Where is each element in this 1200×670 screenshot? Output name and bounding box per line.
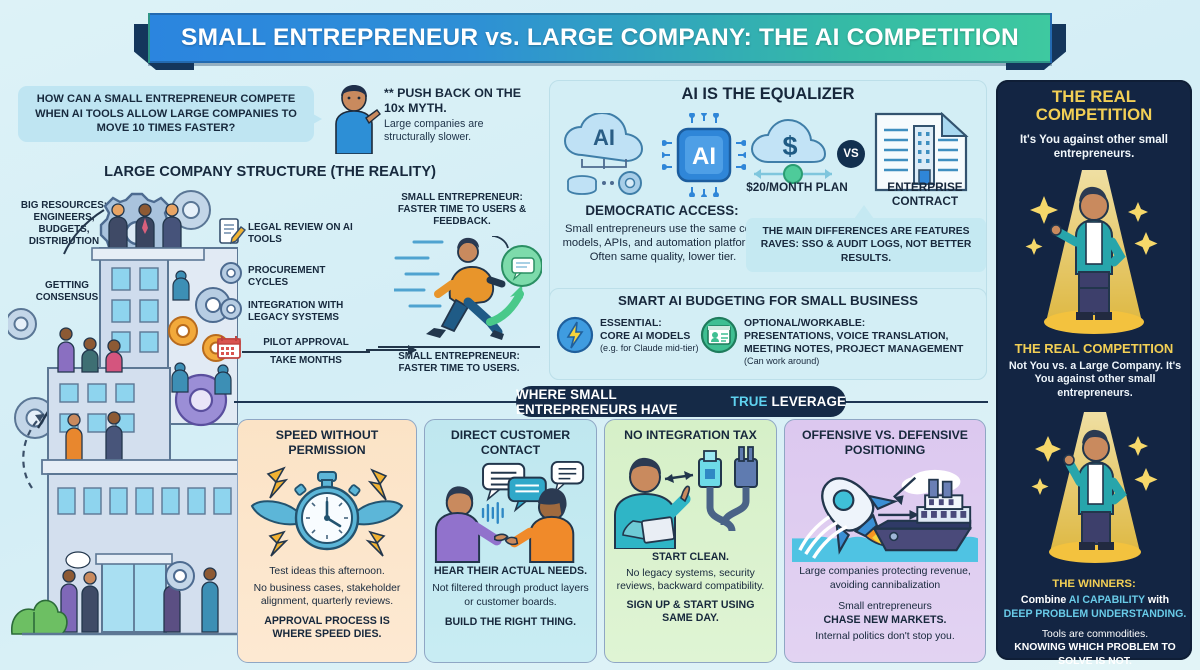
spotlight-person-bottom-illustration [1022, 412, 1168, 567]
card-line-2: No legacy systems, security reviews, bac… [612, 567, 769, 594]
unplugged-cable-icon [612, 443, 769, 551]
card-line-4: Internal politics don't stop you. [792, 630, 978, 644]
plan-left-label: $20/MONTH PLAN [738, 180, 856, 194]
header-ribbon: SMALL ENTREPRENEUR vs. LARGE COMPANY: TH… [0, 8, 1200, 72]
card-title: SPEED WITHOUT PERMISSION [245, 428, 409, 457]
leverage-post: LEVERAGE [772, 394, 846, 409]
lightning-bolt-icon [556, 316, 594, 354]
plan-right-label: ENTERPRISE CONTRACT [866, 180, 984, 208]
pointing-person-illustration [326, 82, 382, 154]
calendar-icon [216, 334, 242, 360]
leverage-rule-left [234, 401, 524, 403]
infographic-root: SMALL ENTREPRENEUR vs. LARGE COMPANY: TH… [0, 0, 1200, 670]
card-body: START CLEAN. No legacy systems, security… [612, 551, 769, 626]
leverage-card-direct-contact[interactable]: DIRECT CUSTOMER CONTACT [424, 419, 597, 663]
header-banner: SMALL ENTREPRENEUR vs. LARGE COMPANY: TH… [148, 13, 1052, 63]
optional-note: (Can work around) [744, 356, 986, 367]
two-people-talking-icon [432, 457, 589, 565]
running-entrepreneur-illustration [394, 236, 542, 346]
essential-note: (e.g. for Claude mid-tier) [600, 343, 712, 354]
label-integration-legacy: INTEGRATION WITH LEGACY SYSTEMS [248, 300, 368, 324]
main-difference-notch [854, 205, 874, 219]
pilot-top-text: PILOT APPROVAL [242, 337, 370, 353]
label-legal-review: LEGAL REVIEW ON AI TOOLS [248, 222, 368, 246]
label-small-entrepreneur-top: SMALL ENTREPRENEUR: FASTER TIME TO USERS… [386, 192, 538, 228]
card-title: NO INTEGRATION TAX [612, 428, 769, 443]
legal-document-icon [216, 216, 246, 246]
se-bottom-text: SMALL ENTREPRENEUR: FASTER TIME TO USERS… [398, 351, 520, 374]
winners-accent: AI CAPABILITY [1069, 594, 1145, 606]
card-line-3: BUILD THE RIGHT THING. [432, 616, 589, 629]
ai-cloud-icon: AI [560, 113, 668, 199]
card-line-2: Small entrepreneurs [792, 600, 978, 614]
essential-line: CORE AI MODELS [600, 330, 712, 343]
integration-gear-icon [218, 296, 244, 322]
svg-text:AI: AI [692, 143, 716, 170]
winners-label: THE WINNERS: [1000, 578, 1188, 590]
leverage-rule-right [838, 401, 988, 403]
svg-text:AI: AI [593, 125, 615, 150]
budget-essential: ESSENTIAL: CORE AI MODELS (e.g. for Clau… [600, 317, 712, 354]
leverage-accent: TRUE [731, 394, 768, 409]
budget-optional: OPTIONAL/WORKABLE: PRESENTATIONS, VOICE … [744, 317, 986, 367]
pilot-bottom-text: TAKE MONTHS [242, 353, 370, 367]
card-line-1: HEAR THEIR ACTUAL NEEDS. [432, 565, 589, 578]
pushback-heading: ** PUSH BACK ON THE 10x MYTH. [384, 86, 534, 116]
label-procurement-cycles: PROCUREMENT CYCLES [248, 265, 368, 289]
democratic-access-heading: DEMOCRATIC ACCESS: [556, 203, 768, 218]
real-competition-sub-mid: Not You vs. a Large Company. It's You ag… [1004, 360, 1186, 400]
winners-text-b: with [1145, 594, 1169, 606]
winners-line3: Tools are commodities. [1000, 628, 1190, 641]
card-line-3: APPROVAL PROCESS IS WHERE SPEED DIES. [245, 615, 409, 641]
essential-heading: ESSENTIAL: [600, 317, 712, 330]
winners-line4: KNOWING WHICH PROBLEM TO SOLVE IS NOT. [1000, 641, 1190, 668]
optional-heading: OPTIONAL/WORKABLE: [744, 317, 986, 330]
card-line-1: Test ideas this afternoon. [245, 565, 409, 579]
question-bubble: HOW CAN A SMALL ENTREPRENEUR COMPETE WHE… [18, 86, 314, 142]
card-title: DIRECT CUSTOMER CONTACT [432, 428, 589, 457]
question-bubble-tail [306, 110, 322, 128]
card-line-3: SIGN UP & START USING SAME DAY. [612, 599, 769, 625]
leverage-banner: WHERE SMALL ENTREPRENEURS HAVE TRUE LEVE… [516, 386, 846, 417]
budget-title: SMART AI BUDGETING FOR SMALL BUSINESS [549, 293, 987, 308]
leverage-pre: WHERE SMALL ENTREPRENEURS HAVE [516, 387, 727, 417]
card-line-2: No business cases, stakeholder alignment… [245, 582, 409, 609]
label-pilot-approval: PILOT APPROVAL TAKE MONTHS [242, 337, 370, 367]
label-small-entrepreneur-bottom: SMALL ENTREPRENEUR: FASTER TIME TO USERS… [378, 346, 540, 375]
card-body: Large companies protecting revenue, avoi… [792, 565, 978, 643]
winged-stopwatch-icon [245, 457, 409, 565]
card-line-1: START CLEAN. [612, 551, 769, 564]
card-line-3: CHASE NEW MARKETS. [792, 614, 978, 627]
winners-formula: Combine AI CAPABILITY with DEEP PROBLEM … [1000, 594, 1190, 621]
svg-text:$: $ [782, 131, 797, 161]
ai-chip-icon: AI [662, 113, 746, 197]
winners-closing: Tools are commodities. KNOWING WHICH PRO… [1000, 628, 1190, 668]
winners-line2: DEEP PROBLEM UNDERSTANDING. [1000, 608, 1190, 622]
card-line-1: Large companies protecting revenue, avoi… [792, 565, 978, 592]
card-body: Test ideas this afternoon. No business c… [245, 565, 409, 641]
spotlight-person-top-illustration [1014, 170, 1174, 338]
main-difference-note: THE MAIN DIFFERENCES ARE FEATURES RAVES:… [746, 218, 986, 272]
real-competition-title-top: THE REAL COMPETITION [1000, 88, 1188, 125]
winners-text-a: Combine [1021, 594, 1069, 606]
equalizer-title: AI IS THE EQUALIZER [549, 85, 987, 104]
vs-badge: VS [837, 140, 865, 168]
rocket-and-ship-icon [792, 457, 978, 565]
optional-line: PRESENTATIONS, VOICE TRANSLATION, MEETIN… [744, 330, 986, 356]
leverage-card-no-integration-tax[interactable]: NO INTEGRATION TAX [604, 419, 777, 663]
card-line-2: Not filtered through product layers or c… [432, 582, 589, 609]
real-competition-title-mid: THE REAL COMPETITION [1000, 341, 1188, 356]
structure-title: LARGE COMPANY STRUCTURE (THE REALITY) [0, 164, 540, 180]
page-title: SMALL ENTREPRENEUR vs. LARGE COMPANY: TH… [181, 24, 1019, 52]
large-company-building-illustration [8, 188, 238, 666]
leverage-card-speed[interactable]: SPEED WITHOUT PERMISSION [237, 419, 417, 663]
card-body: HEAR THEIR ACTUAL NEEDS. Not filtered th… [432, 565, 589, 630]
question-text: HOW CAN A SMALL ENTREPRENEUR COMPETE WHE… [27, 92, 305, 136]
procurement-gear-icon [218, 260, 244, 286]
real-competition-sub-top: It's You against other small entrepreneu… [1004, 133, 1184, 161]
leverage-card-offensive-defensive[interactable]: OFFENSIVE VS. DEFENSIVE POSITIONING [784, 419, 986, 663]
pushback-sub: Large companies are structurally slower. [384, 118, 534, 145]
democratic-access-body: Small entrepreneurs use the same core mo… [556, 222, 770, 265]
card-title: OFFENSIVE VS. DEFENSIVE POSITIONING [792, 428, 978, 457]
pushback-block: ** PUSH BACK ON THE 10x MYTH. Large comp… [384, 86, 534, 144]
